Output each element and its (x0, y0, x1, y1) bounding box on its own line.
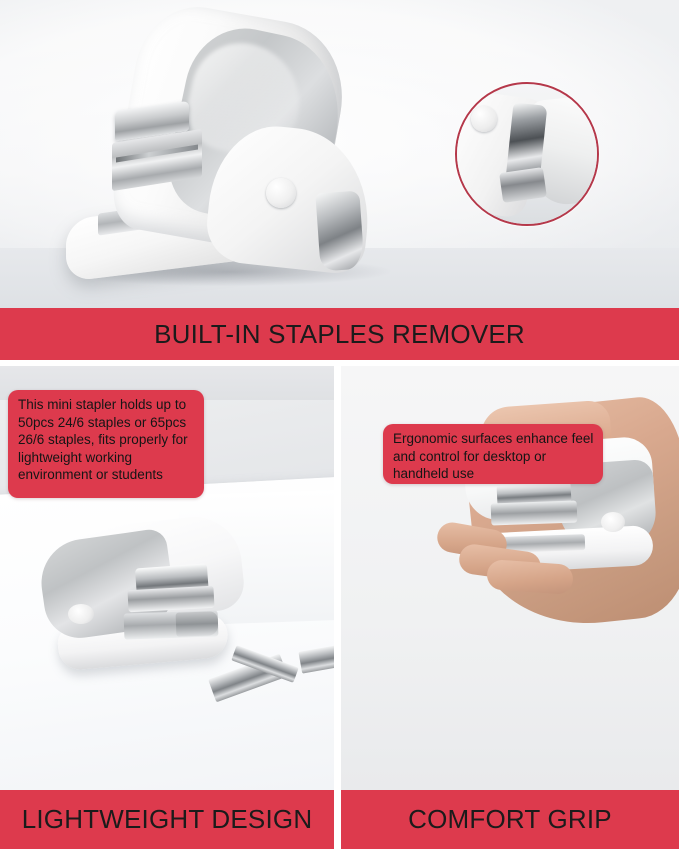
stapler-release-button (601, 512, 625, 532)
hero-stapler-photo (60, 8, 480, 298)
hand-finger (486, 559, 574, 595)
banner-label: COMFORT GRIP (408, 804, 612, 835)
banner-label: BUILT-IN STAPLES REMOVER (154, 319, 525, 350)
banner-label: LIGHTWEIGHT DESIGN (22, 804, 313, 835)
stapler-release-button (266, 178, 296, 208)
stapler-release-button (68, 604, 94, 624)
banner-built-in-staples-remover: BUILT-IN STAPLES REMOVER (0, 308, 679, 360)
callout-text: This mini stapler holds up to 50pcs 24/6… (18, 396, 195, 484)
callout-comfort-grip: Ergonomic surfaces enhance feel and cont… (383, 424, 603, 484)
staples-remover-part (315, 191, 364, 272)
stapler-magazine (491, 501, 578, 526)
stapler-magazine (127, 586, 214, 612)
banner-lightweight-design: LIGHTWEIGHT DESIGN (0, 790, 334, 849)
inset-staples-remover-closeup (455, 82, 599, 226)
product-feature-collage: BUILT-IN STAPLES REMOVER This mini stapl… (0, 0, 679, 849)
panel-built-in-staples-remover (0, 0, 679, 308)
staples-remover-part (176, 611, 219, 636)
inset-release-button (471, 106, 497, 132)
banner-comfort-grip: COMFORT GRIP (341, 790, 679, 849)
callout-lightweight-design: This mini stapler holds up to 50pcs 24/6… (8, 390, 204, 498)
callout-text: Ergonomic surfaces enhance feel and cont… (393, 430, 594, 483)
inset-chrome-tip (499, 167, 547, 203)
